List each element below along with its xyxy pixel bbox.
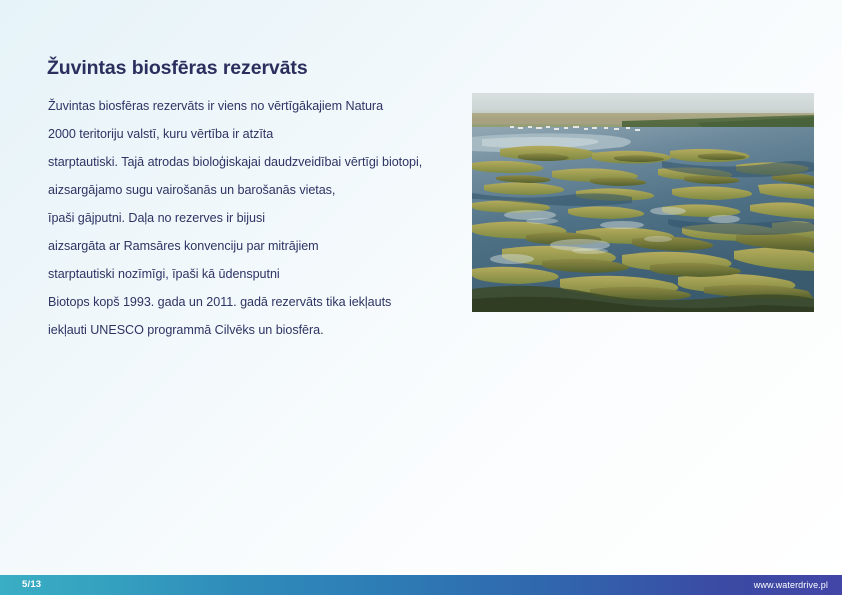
body-text-block: Žuvintas biosfēras rezervāts ir viens no… xyxy=(48,92,478,344)
body-line: starptautiski nozīmīgi, īpaši kā ūdenspu… xyxy=(48,260,478,288)
body-line: 2000 teritoriju valstī, kuru vērtība ir … xyxy=(48,120,478,148)
page-number: 5/13 xyxy=(22,575,41,595)
body-line: starptautiski. Tajā atrodas bioloģiskaja… xyxy=(48,148,478,176)
wetland-illustration xyxy=(472,93,814,312)
aerial-wetland-photo xyxy=(472,93,814,312)
page-title: Žuvintas biosfēras rezervāts xyxy=(47,57,308,80)
slide-canvas: Žuvintas biosfēras rezervāts Žuvintas bi… xyxy=(0,0,842,595)
footer-website-link[interactable]: www.waterdrive.pl xyxy=(754,575,828,595)
body-line: Žuvintas biosfēras rezervāts ir viens no… xyxy=(48,92,478,120)
body-line: aizsargāta ar Ramsāres konvenciju par mi… xyxy=(48,232,478,260)
footer-bar: 5/13 www.waterdrive.pl xyxy=(0,575,842,595)
body-line: īpaši gājputni. Daļa no rezerves ir biju… xyxy=(48,204,478,232)
body-line: iekļauti UNESCO programmā Cilvēks un bio… xyxy=(48,316,478,344)
body-line: Biotops kopš 1993. gada un 2011. gadā re… xyxy=(48,288,478,316)
body-line: aizsargājamo sugu vairošanās un barošanā… xyxy=(48,176,478,204)
